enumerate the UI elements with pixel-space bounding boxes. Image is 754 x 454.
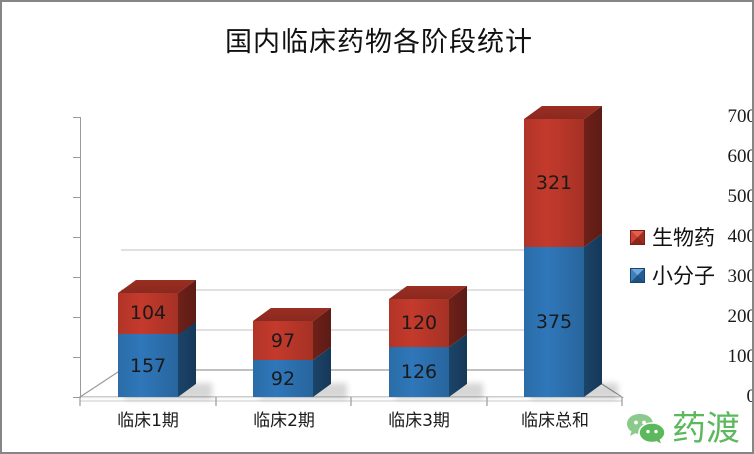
bar-segment-临床总和-生物药[interactable]: 321 bbox=[524, 119, 584, 247]
watermark-logo: 药渡 bbox=[626, 406, 752, 452]
legend-item-small-molecule[interactable]: 小分子 bbox=[630, 256, 715, 294]
legend-label-small-molecule: 小分子 bbox=[652, 260, 715, 290]
bar-segment-front-face bbox=[524, 247, 584, 397]
legend-item-biologic[interactable]: 生物药 bbox=[630, 218, 715, 256]
legend-swatch-icon bbox=[630, 268, 645, 283]
bar-segment-side-face bbox=[584, 234, 602, 397]
legend: 生物药 小分子 bbox=[630, 218, 715, 294]
legend-label-biologic: 生物药 bbox=[652, 222, 715, 252]
bar-segment-side-face bbox=[584, 106, 602, 247]
bar-segment-front-face bbox=[524, 119, 584, 247]
legend-swatch-icon bbox=[630, 230, 645, 245]
x-tick-label-3: 临床总和 bbox=[495, 406, 615, 431]
bar-segment-临床总和-小分子[interactable]: 375 bbox=[524, 247, 584, 397]
x-tick-label-0: 临床1期 bbox=[88, 406, 208, 431]
x-tick-label-2: 临床3期 bbox=[359, 406, 479, 431]
x-tick-label-1: 临床2期 bbox=[224, 406, 344, 431]
wechat-bubbles-icon bbox=[626, 411, 670, 447]
watermark-text: 药渡 bbox=[672, 412, 740, 446]
chart-canvas: 国内临床药物各阶段统计 700 600 500 bbox=[0, 0, 754, 454]
